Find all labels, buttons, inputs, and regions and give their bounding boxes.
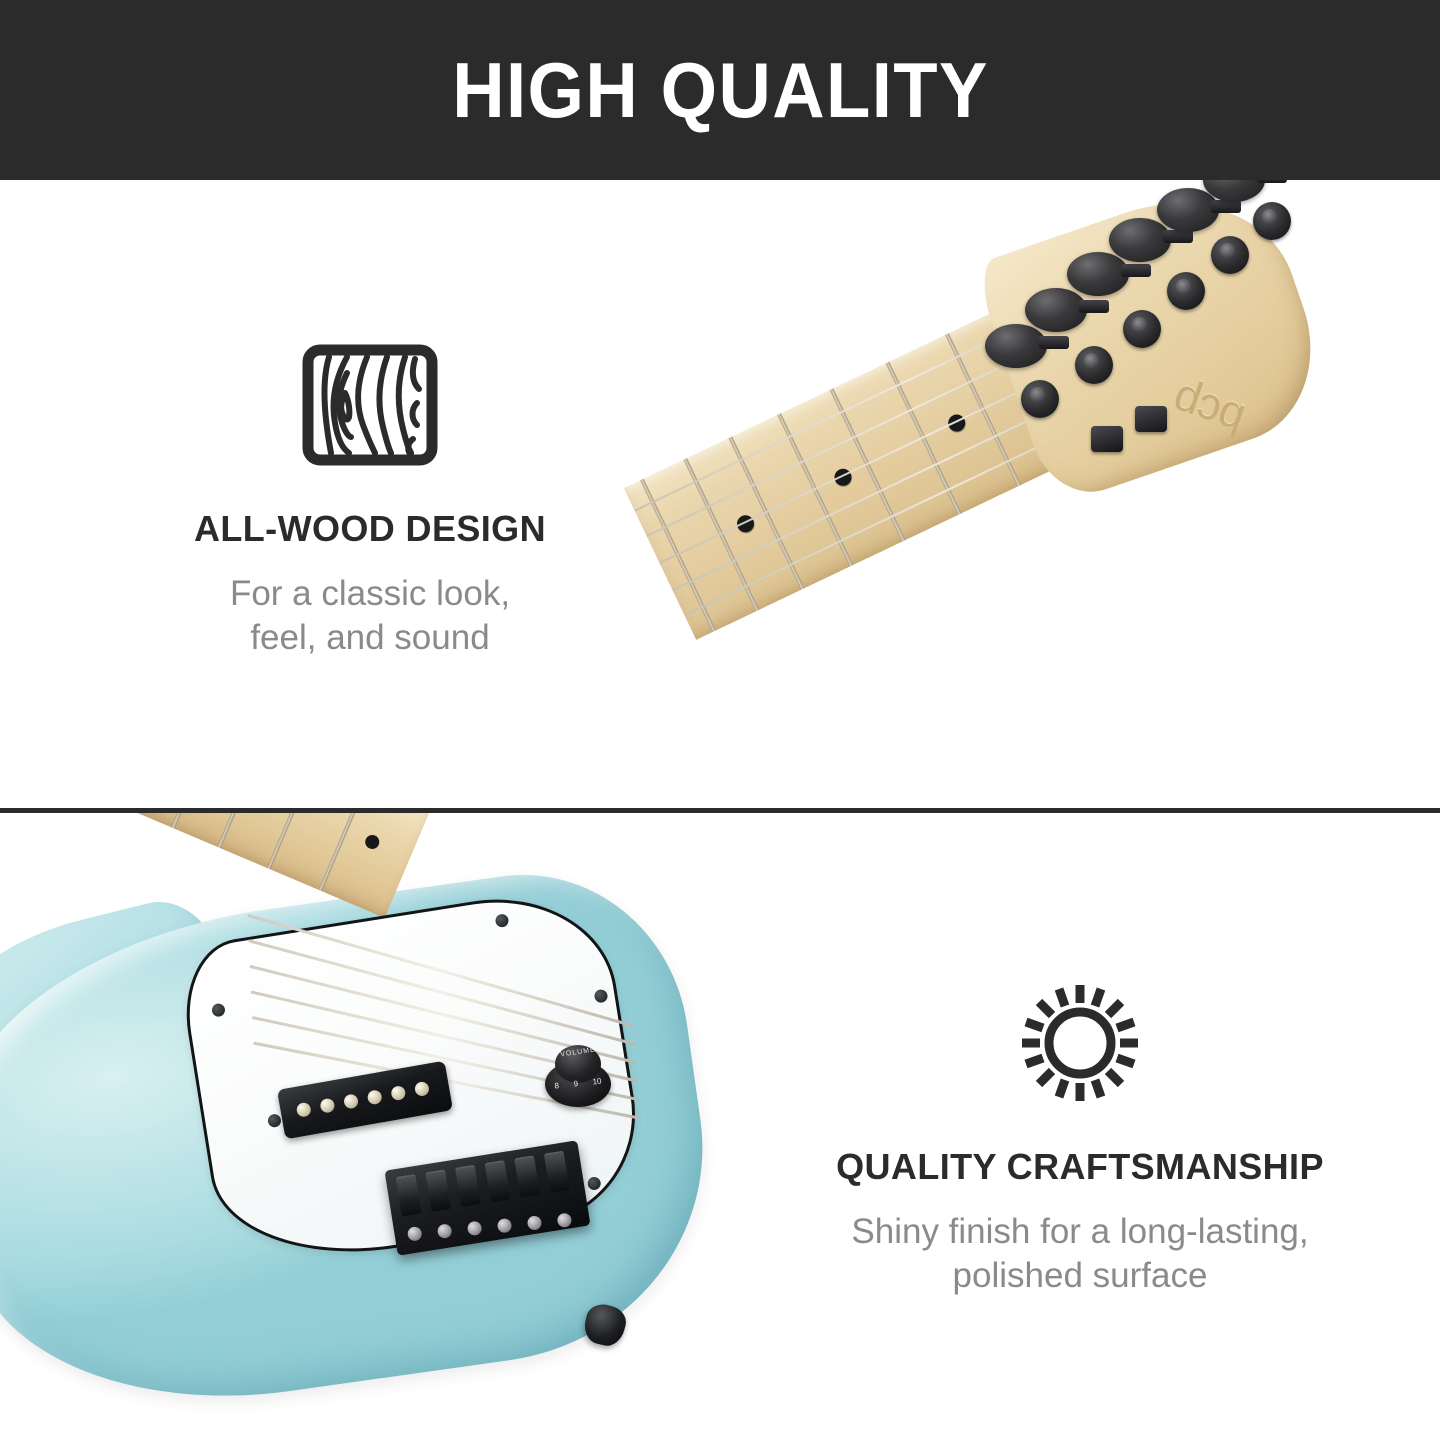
string-post <box>1211 236 1249 274</box>
wood-grain-icon <box>60 330 680 480</box>
string-retainer <box>1135 406 1167 432</box>
panel-quality-craftsmanship: VOLUME 8 9 10 <box>0 813 1440 1440</box>
header-banner: HIGH QUALITY <box>0 0 1440 180</box>
feature-title: QUALITY CRAFTSMANSHIP <box>760 1146 1400 1188</box>
fret-marker-dot <box>363 833 381 851</box>
feature-subtitle-line2: polished surface <box>760 1254 1400 1298</box>
string-post <box>1075 346 1113 384</box>
feature-subtitle-line2: feel, and sound <box>60 616 680 660</box>
product-image-guitar-body <box>0 813 800 1440</box>
panel-all-wood-design: bcp <box>0 180 1440 812</box>
string-retainer <box>1091 426 1123 452</box>
feature-subtitle-line1: For a classic look, <box>60 572 680 616</box>
string-post <box>1123 310 1161 348</box>
tuning-peg <box>1109 218 1171 262</box>
feature-subtitle: Shiny finish for a long-lasting, polishe… <box>760 1210 1400 1298</box>
feature-title: ALL-WOOD DESIGN <box>60 508 680 550</box>
guitar-neck-lower <box>0 813 435 918</box>
sun-shine-icon <box>760 968 1400 1118</box>
feature-subtitle: For a classic look, feel, and sound <box>60 572 680 660</box>
string-post <box>1167 272 1205 310</box>
feature-subtitle-line1: Shiny finish for a long-lasting, <box>760 1210 1400 1254</box>
string-post <box>1021 380 1059 418</box>
volume-knob[interactable]: VOLUME 8 9 10 <box>545 1041 611 1107</box>
string-post <box>1253 202 1291 240</box>
tuning-peg <box>985 324 1047 368</box>
tuning-peg <box>1067 252 1129 296</box>
page-title: HIGH QUALITY <box>452 51 989 129</box>
feature-block-all-wood-design: ALL-WOOD DESIGN For a classic look, feel… <box>60 330 680 660</box>
tuning-peg <box>1025 288 1087 332</box>
tuning-peg <box>1157 188 1219 232</box>
guitar-headstock: bcp <box>1005 210 1305 465</box>
feature-block-quality-craftsmanship: QUALITY CRAFTSMANSHIP Shiny finish for a… <box>760 968 1400 1298</box>
product-image-headstock: bcp <box>600 180 1440 812</box>
